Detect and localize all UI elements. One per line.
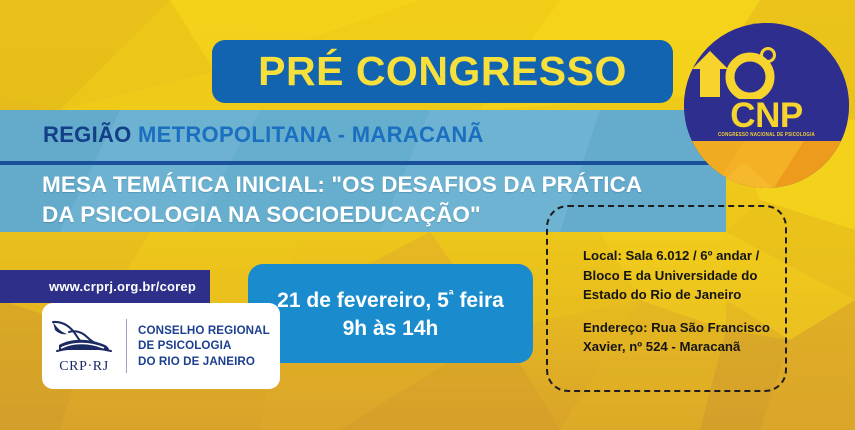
venue-endereco: Endereço: Rua São Francisco Xavier, nº 5… xyxy=(583,318,788,357)
website-url[interactable]: www.crprj.org.br/corep xyxy=(49,279,196,294)
region-primary: REGIÃO xyxy=(43,122,132,147)
ten-house-icon xyxy=(684,47,780,99)
crp-rj-logo-card: CRP·RJ CONSELHO REGIONAL DE PSICOLOGIA D… xyxy=(42,303,280,389)
event-banner: PRÉ CONGRESSO REGIÃO METROPOLITANA - MAR… xyxy=(0,0,855,430)
cnp-logo-badge: CNP CONGRESSO NACIONAL DE PSICOLOGIA xyxy=(684,23,849,188)
date-plate: 21 de fevereiro, 5ª feira 9h às 14h xyxy=(248,264,533,363)
divider-rule xyxy=(0,161,726,165)
crp-rj-mark: CRP·RJ xyxy=(42,303,126,389)
cnp-number-10-icon xyxy=(684,47,849,99)
date-line-1: 21 de fevereiro, 5ª feira xyxy=(277,287,504,313)
venue-text: Local: Sala 6.012 / 6º andar / Bloco E d… xyxy=(583,246,788,357)
theme-line-1: MESA TEMÁTICA INICIAL: "OS DESAFIOS DA P… xyxy=(42,170,722,200)
page-title: PRÉ CONGRESSO xyxy=(258,48,627,95)
crp-line-2: DE PSICOLOGIA xyxy=(138,338,270,354)
date-suffix: feira xyxy=(454,289,504,312)
date-prefix: 21 de fevereiro, 5 xyxy=(277,289,449,312)
region-secondary: METROPOLITANA - MARACANÃ xyxy=(138,122,484,147)
crp-line-1: CONSELHO REGIONAL xyxy=(138,323,270,339)
title-plate: PRÉ CONGRESSO xyxy=(212,40,673,103)
crp-rj-name: CONSELHO REGIONAL DE PSICOLOGIA DO RIO D… xyxy=(127,323,270,370)
website-strip[interactable]: www.crprj.org.br/corep xyxy=(0,270,210,303)
cnp-subtitle: CONGRESSO NACIONAL DE PSICOLOGIA xyxy=(684,132,849,138)
venue-local: Local: Sala 6.012 / 6º andar / Bloco E d… xyxy=(583,246,788,305)
crp-line-3: DO RIO DE JANEIRO xyxy=(138,354,270,370)
cnp-acronym: CNP xyxy=(684,98,849,133)
region-line: REGIÃO METROPOLITANA - MARACANÃ xyxy=(43,122,484,148)
bird-book-icon xyxy=(49,318,119,358)
crp-rj-acronym: CRP·RJ xyxy=(59,359,109,375)
date-line-2: 9h às 14h xyxy=(343,317,439,341)
